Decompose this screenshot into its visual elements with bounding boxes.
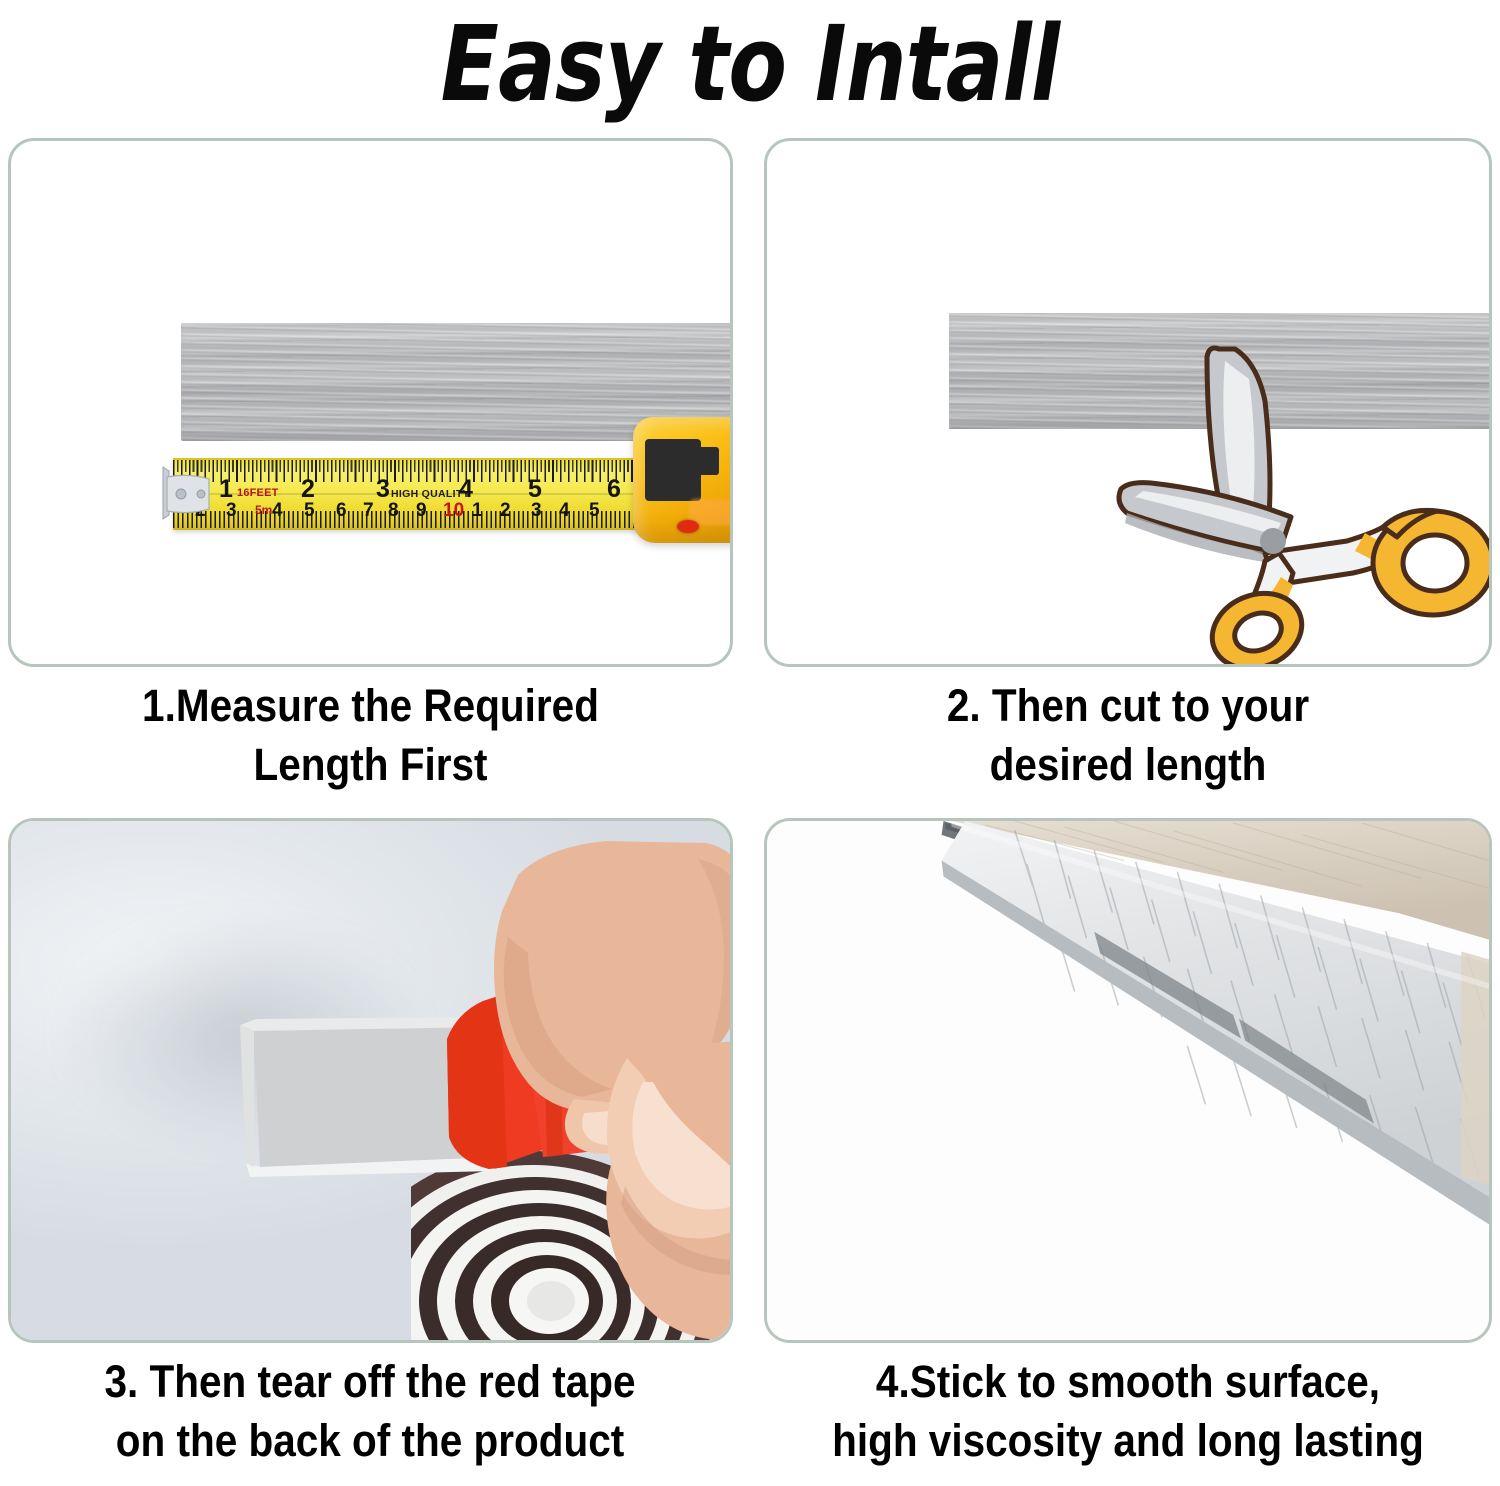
tape-inch-5: 5 (528, 477, 542, 502)
tape-inch-3: 3 (376, 477, 390, 502)
tape-metric-text: 5m (255, 503, 272, 517)
step-1-panel: 16FEET 5m HIGH QUALITY 1 2 3 4 5 6 2 3 4… (8, 138, 733, 667)
step-1-caption: 1.Measure the Required Length First (44, 676, 697, 795)
panel-frame (764, 818, 1492, 1343)
tape-measure-case (633, 417, 733, 543)
tape-cm-3: 3 (226, 501, 237, 520)
tape-cm-12: 2 (500, 501, 511, 520)
tape-cm-4: 4 (272, 501, 283, 520)
tape-brand-text: 16FEET (237, 487, 279, 499)
tape-cm-13: 3 (531, 501, 542, 520)
step-2-panel (764, 138, 1492, 667)
tape-cm-10: 10 (443, 501, 464, 520)
installed-trim-photo (767, 821, 1489, 1340)
panel-frame (764, 138, 1492, 667)
tape-inch-6: 6 (607, 477, 621, 502)
tape-cm-8: 8 (388, 501, 399, 520)
tape-cm-6: 6 (336, 501, 347, 520)
tape-cm-7: 7 (363, 501, 374, 520)
step-3-panel (8, 818, 733, 1343)
tape-cm-5: 5 (304, 501, 315, 520)
step-2-caption: 2. Then cut to your desired length (800, 676, 1455, 795)
steps-grid: 16FEET 5m HIGH QUALITY 1 2 3 4 5 6 2 3 4… (0, 0, 1500, 1486)
tape-measure-blade: 16FEET 5m HIGH QUALITY 1 2 3 4 5 6 2 3 4… (173, 458, 663, 530)
installed-trim-illustration (767, 821, 1489, 1340)
panel-frame: 16FEET 5m HIGH QUALITY 1 2 3 4 5 6 2 3 4… (8, 138, 733, 667)
step-4-caption: 4.Stick to smooth surface, high viscosit… (793, 1352, 1463, 1471)
tape-cm-15: 5 (589, 501, 600, 520)
tape-red-indicator (677, 520, 699, 533)
scissors-icon (1115, 341, 1492, 667)
hand-lower-thumb (581, 1036, 733, 1343)
tape-cm-14: 4 (559, 501, 570, 520)
tape-inch-4: 4 (459, 477, 473, 502)
step-4-panel (764, 818, 1492, 1343)
tape-cm-9: 9 (416, 501, 427, 520)
tape-inch-2: 2 (301, 477, 315, 502)
tape-ticks-minor (173, 460, 663, 472)
tape-cm-11: 1 (472, 501, 483, 520)
tape-inch-1: 1 (219, 477, 233, 502)
peel-red-tape-photo (11, 821, 730, 1340)
tape-lock-button-tab (685, 447, 719, 475)
step-3-caption: 3. Then tear off the red tape on the bac… (37, 1352, 703, 1471)
panel-frame (8, 818, 733, 1343)
tape-hook-icon (159, 463, 215, 525)
